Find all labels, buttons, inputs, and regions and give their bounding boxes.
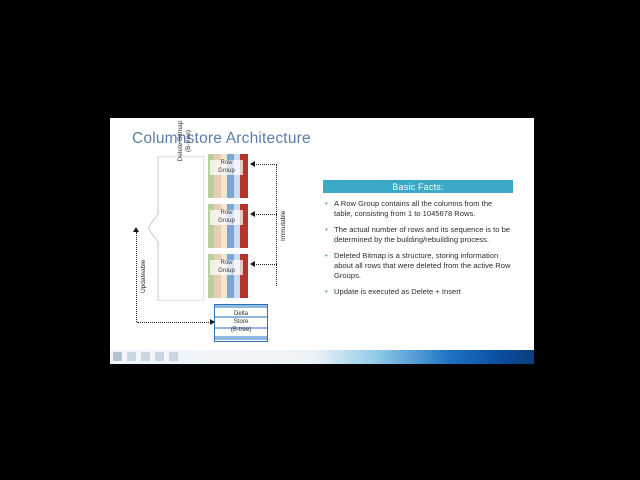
row-group-line1: Row [210,210,243,218]
taskbar-icon-group[interactable] [113,352,178,361]
row-group-block: Row Group [208,254,248,298]
updateable-connector [137,322,211,323]
updateable-label: Updateable [140,259,147,294]
app-icon[interactable] [113,352,122,361]
delete-bitmap-label: Delete Bitmap (B-tree) [177,96,193,186]
immutable-rail [276,164,277,286]
updateable-arrow-icon [133,227,139,232]
list-item: • A Row Group contains all the columns f… [323,199,513,225]
presentation-slide: Columnstore Architecture Delete Bitmap (… [110,118,534,350]
window-icon[interactable] [127,352,136,361]
fact-text: Deleted Bitmap is a structure, storing i… [334,251,510,279]
immutable-label: Immutable [280,210,287,242]
updateable-rail [136,232,137,322]
immutable-connector [256,214,277,215]
delta-store-line2: Store [215,318,267,326]
fact-text: Update is executed as Delete + Insert [334,287,461,296]
immutable-connector [256,264,277,265]
updateable-arrow-icon [210,319,215,325]
delete-bitmap-line2: (B-tree) [185,96,193,186]
delta-store-line1: Delta [215,310,267,318]
fact-text: A Row Group contains all the columns fro… [334,199,492,218]
list-item: • Deleted Bitmap is a structure, storing… [323,251,513,287]
delta-band [215,336,267,340]
window-icon[interactable] [155,352,164,361]
bullet-icon: • [325,199,328,209]
immutable-arrow-icon [250,261,255,267]
list-item: • Update is executed as Delete + Insert [323,287,513,304]
fact-text: The actual number of rows and its sequen… [334,225,510,244]
delta-band [215,305,267,308]
row-group-block: Row Group [208,154,248,198]
list-item: • The actual number of rows and its sequ… [323,225,513,251]
bullet-icon: • [325,287,328,297]
row-group-line1: Row [210,260,243,268]
row-group-line2: Group [210,218,243,226]
immutable-arrow-icon [250,161,255,167]
page-title: Columnstore Architecture [132,130,311,148]
delta-store-block: Delta Store (B-tree) [214,304,268,342]
basic-facts-list: • A Row Group contains all the columns f… [323,193,513,304]
letterbox-top [0,0,640,105]
window-icon[interactable] [169,352,178,361]
row-group-caption: Row Group [210,160,243,175]
basic-facts-header: Basic Facts: [323,180,513,193]
delete-bitmap-line1: Delete Bitmap [177,96,185,186]
row-group-caption: Row Group [210,260,243,275]
window-icon[interactable] [141,352,150,361]
columnstore-diagram: Delete Bitmap (B-tree) Row [130,154,310,344]
basic-facts-panel: Basic Facts: • A Row Group contains all … [323,180,513,304]
video-player-screen: Columnstore Architecture Delete Bitmap (… [0,0,640,480]
row-group-line2: Group [210,268,243,276]
immutable-arrow-icon [250,211,255,217]
delete-bitmap-chevron: Delete Bitmap (B-tree) [148,156,204,301]
letterbox-bottom [0,370,640,480]
windows-taskbar[interactable] [110,350,534,364]
row-group-caption: Row Group [210,210,243,225]
video-frame[interactable]: Columnstore Architecture Delete Bitmap (… [0,105,640,370]
delta-store-line3: (B-tree) [215,326,267,334]
bullet-icon: • [325,251,328,261]
immutable-connector [256,164,277,165]
row-group-block: Row Group [208,204,248,248]
row-group-line2: Group [210,168,243,176]
bullet-icon: • [325,225,328,235]
row-group-line1: Row [210,160,243,168]
delta-store-caption: Delta Store (B-tree) [215,310,267,334]
